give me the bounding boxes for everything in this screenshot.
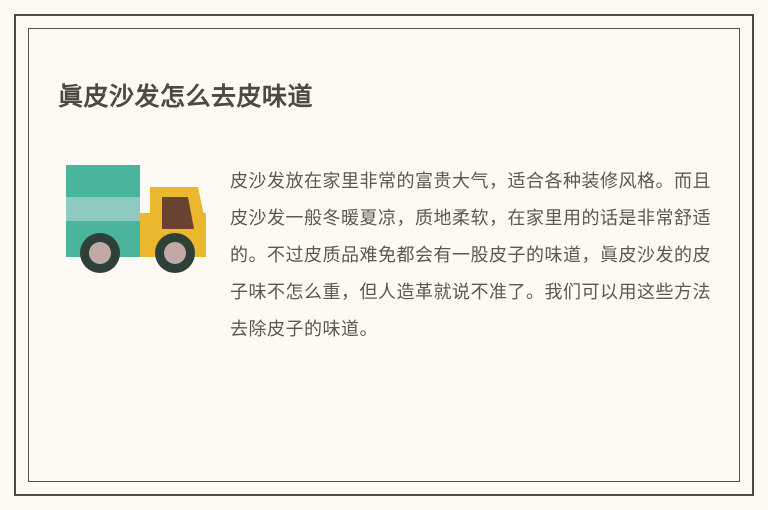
- card-content: 眞皮沙发怎么去皮味道: [0, 0, 768, 510]
- article-body-text: 皮沙发放在家里非常的富贵大气，适合各种装修风格。而且皮沙发一般冬暖夏凉，质地柔软…: [230, 163, 720, 348]
- article-title: 眞皮沙发怎么去皮味道: [58, 79, 698, 115]
- delivery-truck-icon: [58, 153, 208, 273]
- article-card: 眞皮沙发怎么去皮味道: [0, 0, 768, 510]
